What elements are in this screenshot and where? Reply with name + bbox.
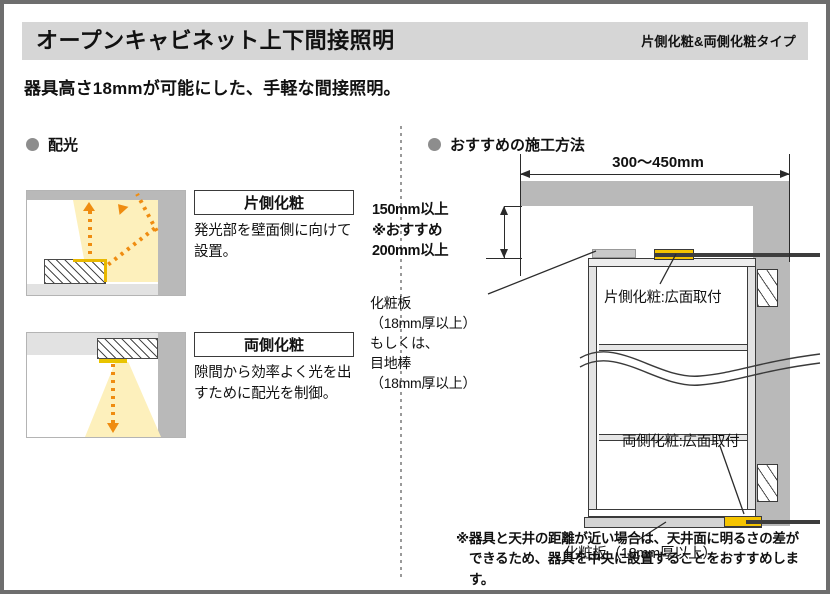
dim-vertical-line3: 200mm以上 — [372, 243, 448, 259]
extension-tick-upper — [504, 206, 522, 207]
light-ray-down — [111, 364, 115, 424]
installation-drawing: 300〜450mm 150mm以上 ※おすすめ 200mm以上 化粧板 （18m… — [408, 154, 828, 544]
ceiling-slab — [520, 181, 790, 206]
distribution-desc-both-side: 隙間から効率よく光を出すために配光を制御。 — [194, 363, 362, 405]
led-emitter — [99, 359, 127, 363]
dim-vertical-line2: ※おすすめ — [372, 223, 442, 239]
filled-circle-icon — [428, 138, 441, 151]
top-edge-strip — [592, 249, 636, 258]
led-emitter-horizontal — [73, 259, 107, 262]
wall-bracket-icon — [757, 464, 778, 502]
callout-board-left: 化粧板 （18mm厚以上） もしくは、 目地棒 （18mm厚以上） — [370, 294, 490, 393]
cabinet-shelf — [599, 344, 747, 351]
header-band: オープンキャビネット上下間接照明 片側化粧&両側化粧タイプ — [22, 22, 808, 60]
mounting-rail-top — [654, 253, 820, 257]
dimension-arrow-up — [500, 206, 508, 215]
product-type-label: 片側化粧&両側化粧タイプ — [641, 35, 796, 48]
callout-board-left-l3: もしくは、 — [370, 335, 439, 351]
light-ray-up — [88, 211, 92, 259]
page-title: オープンキャビネット上下間接照明 — [36, 30, 395, 52]
dimension-line-horizontal — [520, 174, 790, 175]
product-spec-sheet: オープンキャビネット上下間接照明 片側化粧&両側化粧タイプ 器具高さ18mmが可… — [0, 0, 830, 594]
diagram-one-side-finish — [26, 190, 186, 296]
callout-board-left-l2: （18mm厚以上） — [370, 315, 476, 331]
callout-top-fixture: 片側化粧:広面取付 — [604, 288, 721, 309]
section-label-distribution: 配光 — [48, 134, 78, 155]
footnote: ※器具と天井の距離が近い場合は、天井面に明るさの差が できるため、器具を中央に設… — [456, 529, 816, 590]
cabinet-body-hatched — [44, 259, 106, 284]
wall-surface — [158, 333, 185, 437]
footnote-line2: できるため、器具を中央に設置することをおすすめします。 — [456, 549, 816, 590]
distribution-item-both-side: 両側化粧 隙間から効率よく光を出すために配光を制御。 — [194, 332, 362, 405]
dimension-arrow-left — [520, 170, 530, 178]
shelf-surface — [27, 284, 158, 295]
distribution-title-both-side: 両側化粧 — [194, 332, 354, 357]
dimension-arrow-down — [500, 249, 508, 258]
filled-circle-icon — [26, 138, 39, 151]
callout-board-left-l4: 目地棒 — [370, 355, 411, 371]
light-ray-up-arrowhead — [83, 202, 95, 211]
footnote-line1: ※器具と天井の距離が近い場合は、天井面に明るさの差が — [456, 531, 799, 546]
light-cone — [85, 362, 161, 437]
distribution-item-one-side: 片側化粧 発光部を壁面側に向けて設置。 — [194, 190, 362, 263]
cabinet-side-left — [588, 266, 597, 516]
lead-text: 器具高さ18mmが可能にした、手軽な間接照明。 — [24, 74, 401, 99]
cabinet-body-hatched — [97, 338, 158, 359]
section-header-distribution: 配光 — [26, 134, 78, 155]
callout-board-left-l1: 化粧板 — [370, 295, 411, 311]
dim-vertical-line1: 150mm以上 — [372, 202, 448, 218]
diagram-both-side-finish — [26, 332, 186, 438]
wall-surface — [158, 191, 185, 295]
wall-bracket-icon — [757, 269, 778, 307]
callout-board-left-l5: （18mm厚以上） — [370, 375, 476, 391]
callout-bottom-fixture: 両側化粧:広面取付 — [622, 432, 739, 453]
dimension-arrow-right — [780, 170, 790, 178]
distribution-desc-one-side: 発光部を壁面側に向けて設置。 — [194, 221, 362, 263]
dimension-label-vertical: 150mm以上 ※おすすめ 200mm以上 — [372, 200, 500, 262]
cabinet-side-right — [747, 266, 756, 516]
mounting-rail-bottom — [746, 520, 820, 524]
distribution-title-one-side: 片側化粧 — [194, 190, 354, 215]
light-ray-down-arrowhead — [107, 423, 119, 433]
dimension-label-horizontal: 300〜450mm — [558, 151, 758, 172]
